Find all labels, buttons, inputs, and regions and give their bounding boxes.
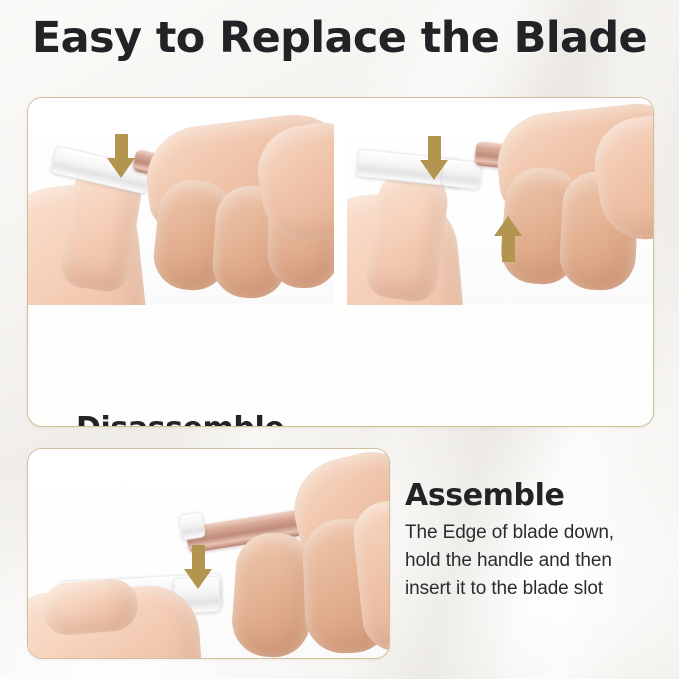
caption-assemble: Assemble The Edge of blade down, hold th… xyxy=(405,478,653,603)
page-title: Easy to Replace the Blade xyxy=(0,14,679,62)
step-body-assemble: The Edge of blade down, hold the handle … xyxy=(405,519,653,602)
photo-row-disassemble xyxy=(28,98,653,305)
step-heading-assemble: Assemble xyxy=(405,478,653,513)
photo-scene xyxy=(28,449,389,658)
infographic-page: Easy to Replace the Blade xyxy=(0,0,679,679)
caption-disassemble: Disassemble The Edge of blade down, hold… xyxy=(76,411,636,427)
disassemble-photo-2 xyxy=(334,98,653,305)
step-heading-disassemble: Disassemble xyxy=(76,411,636,427)
step-card-disassemble: Disassemble The Edge of blade down, hold… xyxy=(27,97,654,427)
step-card-assemble xyxy=(27,448,390,659)
photo-scene xyxy=(347,98,653,305)
photo-scene xyxy=(28,98,334,305)
assemble-photo-1 xyxy=(28,449,389,658)
blade-edge xyxy=(178,511,206,540)
disassemble-photo-1 xyxy=(28,98,334,305)
